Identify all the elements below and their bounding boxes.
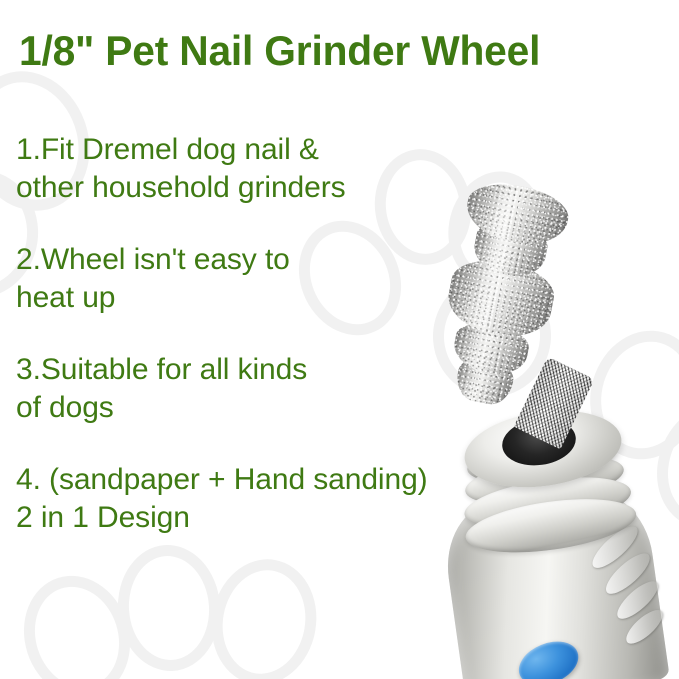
paw-toe-pad — [202, 551, 326, 679]
feature-item-4: 4. (sandpaper + Hand sanding) 2 in 1 Des… — [16, 461, 486, 537]
feature-item-2: 2.Wheel isn't easy to heat up — [16, 241, 486, 317]
power-button[interactable] — [512, 633, 584, 679]
product-infographic: 1/8" Pet Nail Grinder Wheel 1.Fit Dremel… — [0, 0, 679, 679]
feature-item-1: 1.Fit Dremel dog nail & other household … — [16, 131, 486, 207]
page-title: 1/8" Pet Nail Grinder Wheel — [19, 27, 540, 75]
paw-toe-pad — [8, 562, 145, 679]
feature-list: 1.Fit Dremel dog nail & other household … — [16, 131, 486, 537]
feature-item-3: 3.Suitable for all kinds of dogs — [16, 351, 486, 427]
paw-toe-pad — [114, 542, 225, 675]
